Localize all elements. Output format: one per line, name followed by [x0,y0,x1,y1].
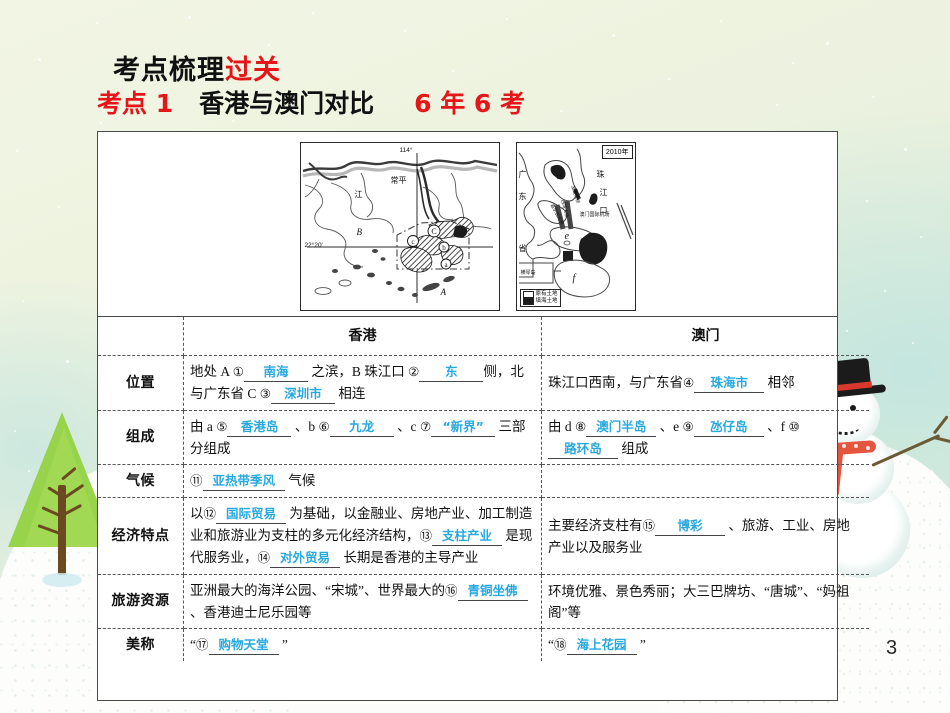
table-row: 经济特点以⑫国际贸易 为基础，以金融业、房地产业、加工制造业和旅游业为支柱的多元… [98,498,869,575]
blank-number-marker: ⑨ [682,420,693,434]
static-text: 相邻 [764,375,794,390]
snowflake [912,342,914,344]
snowflake [506,18,508,20]
snowflake [560,110,562,112]
blank-number-marker: ① [233,365,244,379]
section-title-number: 考点 1 [97,89,173,118]
snowflake [878,604,880,606]
answer-blank[interactable]: 亚热带季风 [203,471,286,491]
snowflake [38,58,41,61]
legend-swatch-hollow [523,291,534,298]
map-label-zhu: 珠 [597,169,605,180]
table-row: 组成由 a ⑤香港岛 、b ⑥九龙 、c ⑦“新界” 三部分组成由 d ⑧澳门半… [98,411,869,465]
cell-hongkong-5: “⑰购物天堂 ” [184,629,542,662]
static-text: 相连 [335,386,365,401]
map-label-jiang2: 江 [600,187,608,198]
map-label-hengqin: 横琴岛 [521,269,536,276]
table-corner-cell [98,317,184,356]
static-text: ” [279,637,288,652]
map-label-a: A [441,287,447,297]
column-header-hongkong: 香港 [184,317,542,356]
row-header-2: 气候 [98,465,184,498]
snowflake [720,20,722,22]
row-header-4: 旅游资源 [98,575,184,629]
static-text: 、香港迪士尼乐园等 [190,605,312,620]
answer-blank[interactable]: 国际贸易 [216,504,286,524]
blank-number-marker: ⑦ [420,420,431,434]
blank-number-marker: ⑧ [575,420,586,434]
page-title-red: 过关 [225,55,281,86]
answer-blank[interactable]: 澳门半岛 [586,417,656,437]
map-legend: 原有土地 填海土地 [520,289,561,307]
snowflake [930,620,932,622]
legend-label-reclaimed: 填海土地 [536,298,558,305]
blank-number-marker: ⑤ [216,420,227,434]
static-text: 由 a [190,419,216,434]
legend-swatch-filled [523,298,534,305]
answer-blank[interactable]: 九龙 [330,417,394,437]
map-label-2220: 22°20′ [305,242,323,249]
static-text: 气候 [285,473,315,488]
table-row: 美称“⑰购物天堂 ”“⑱海上花园 ” [98,629,869,662]
snowflake [866,200,868,202]
column-header-macau: 澳门 [542,317,870,356]
comparison-table: 香港澳门位置地处 A ①南海 之滨，B 珠江口 ②东侧，北与广东省 C ③深圳市… [98,317,869,661]
maps-row: C c b a 114° 常平 江 B 22°20′ A [98,132,837,317]
section-title-exam-count: 6 年 6 考 [414,89,525,118]
static-text: 、e [656,419,682,434]
page-title-black: 考点梳理 [113,55,225,86]
answer-blank[interactable]: 氹仔岛 [694,417,764,437]
static-text: 、c [394,419,420,434]
answer-blank[interactable]: 购物天堂 [209,635,279,655]
answer-blank[interactable]: 东 [419,362,483,382]
blank-number-marker: ⑫ [204,507,217,521]
row-header-1: 组成 [98,411,184,465]
static-text: 环境优雅、景色秀丽；大三巴牌坊、“唐城”、“妈祖阁”等 [548,584,849,620]
answer-blank[interactable]: 珠海市 [694,373,764,393]
static-text: 以 [190,506,204,521]
static-text: 珠江口西南，与广东省 [548,375,683,390]
svg-text:C: C [431,227,436,236]
static-text: 长期是香港的主导产业 [340,550,478,565]
answer-blank[interactable]: 路环岛 [548,439,618,459]
map-label-d: d [557,171,562,182]
answer-blank[interactable]: 支柱产业 [432,526,502,546]
cell-macau-1: 由 d ⑧澳门半岛 、e ⑨氹仔岛 、f ⑩路环岛 组成 [542,411,870,465]
cell-macau-0: 珠江口西南，与广东省④珠海市 相邻 [542,356,870,411]
snowflake [920,236,922,238]
cell-macau-3: 主要经济支柱有⑮博彩 、旅游、工业、房地产业以及服务业 [542,498,870,575]
answer-blank[interactable]: 南海 [244,362,308,382]
snowflake [404,30,406,32]
answer-blank[interactable]: 香港岛 [227,417,291,437]
blank-number-marker: ⑮ [643,519,656,533]
map-hong-kong-svg: C c b a [301,143,499,310]
snowflake [312,12,314,14]
blank-number-marker: ⑰ [196,638,209,652]
blank-number-marker: ⑩ [788,420,799,434]
svg-text:b: b [442,244,446,252]
snowflake [22,300,24,302]
page-number: 3 [886,637,897,660]
table-header-row: 香港澳门 [98,317,869,356]
map-label-changping: 常平 [391,175,407,186]
blank-number-marker: ⑯ [445,584,458,598]
cell-hongkong-0: 地处 A ①南海 之滨，B 珠江口 ②东侧，北与广东省 C ③深圳市 相连 [184,356,542,411]
snowflake [904,148,907,151]
snowflake [66,360,69,363]
static-text: 组成 [618,441,648,456]
map-macau: 2010年 广 东 省 d e f 珠 江 口 澳门国际机场 嘉乐庇大桥 西湾大… [516,142,636,311]
blank-number-marker: ④ [683,376,694,390]
static-text: 主要经济支柱有 [548,518,643,533]
snowflake [58,206,60,208]
map-label-dong: 东 [519,191,527,202]
row-header-0: 位置 [98,356,184,411]
snowflake [16,150,18,152]
row-header-3: 经济特点 [98,498,184,575]
map-label-sheng: 省 [519,243,527,254]
legend-item-original-land: 原有土地 [523,291,558,298]
map-macau-svg [517,143,635,310]
blank-number-marker: ⑭ [258,551,271,565]
blank-number-marker: ② [408,365,419,379]
snowflake [776,104,778,106]
snowflake [268,44,270,46]
static-text: 之滨，B 珠江口 [308,364,408,379]
page-title: 考点梳理过关 [113,48,281,87]
map-label-guang: 广 [519,169,527,180]
cell-hongkong-3: 以⑫国际贸易 为基础，以金融业、房地产业、加工制造业和旅游业为支柱的多元化经济结… [184,498,542,575]
section-title: 考点 1香港与澳门对比6 年 6 考 [97,84,525,120]
static-text: ” [637,637,646,652]
cell-hongkong-2: ⑪亚热带季风 气候 [184,465,542,498]
static-text: 地处 A [190,364,233,379]
answer-blank[interactable]: “新界” [431,417,495,437]
comparison-table-container: C c b a 114° 常平 江 B 22°20′ A [97,131,838,701]
cell-macau-4: 环境优雅、景色秀丽；大三巴牌坊、“唐城”、“妈祖阁”等 [542,575,870,629]
map-label-jiang: 江 [355,189,363,200]
snowflake [668,78,670,80]
blank-number-marker: ③ [260,387,271,401]
map-label-b: B [357,227,363,237]
cell-hongkong-4: 亚洲最大的海洋公园、“宋城”、世界最大的⑯青铜坐佛 、香港迪士尼乐园等 [184,575,542,629]
static-text: 、f [764,419,789,434]
snowflake [884,290,886,292]
blank-number-marker: ⑪ [190,474,203,488]
map-label-airport: 澳门国际机场 [580,211,610,218]
map-hong-kong: C c b a 114° 常平 江 B 22°20′ A [300,142,500,311]
answer-blank[interactable]: 海上花园 [567,635,637,655]
snowflake [232,120,234,122]
answer-blank[interactable]: 青铜坐佛 [458,581,528,601]
cell-macau-5: “⑱海上花园 ” [542,629,870,662]
blank-number-marker: ⑥ [318,420,329,434]
static-text: 由 d [548,419,575,434]
map-label-e: e [565,231,569,242]
snowflake [60,660,62,662]
snowflake [792,62,794,64]
blank-number-marker: ⑬ [420,529,433,543]
legend-item-reclaimed-land: 填海土地 [523,298,558,305]
table-row: 气候⑪亚热带季风 气候 [98,465,869,498]
snowflake [612,34,615,37]
snowflake [930,470,933,473]
map-label-f: f [573,273,576,284]
answer-blank[interactable]: 对外贸易 [270,548,340,568]
snowflake [100,122,102,124]
static-text: 、b [291,419,318,434]
map-year-tag: 2010年 [602,145,633,159]
cell-hongkong-1: 由 a ⑤香港岛 、b ⑥九龙 、c ⑦“新界” 三部分组成 [184,411,542,465]
snowflake [826,42,829,45]
blank-number-marker: ⑱ [554,638,567,652]
snowflake [872,96,874,98]
legend-label-original: 原有土地 [536,291,558,298]
answer-blank[interactable]: 博彩 [655,516,725,536]
section-title-text: 香港与澳门对比 [199,89,374,118]
snowflake [452,70,454,72]
static-text: 亚洲最大的海洋公园、“宋城”、世界最大的 [190,583,445,598]
table-row: 位置地处 A ①南海 之滨，B 珠江口 ②东侧，北与广东省 C ③深圳市 相连珠… [98,356,869,411]
row-header-5: 美称 [98,629,184,662]
table-row: 旅游资源亚洲最大的海洋公园、“宋城”、世界最大的⑯青铜坐佛 、香港迪士尼乐园等环… [98,575,869,629]
snowflake [96,22,98,24]
map-label-114: 114° [400,147,413,154]
answer-blank[interactable]: 深圳市 [271,384,335,404]
cell-macau-2 [542,465,870,498]
snowflake [188,16,191,19]
